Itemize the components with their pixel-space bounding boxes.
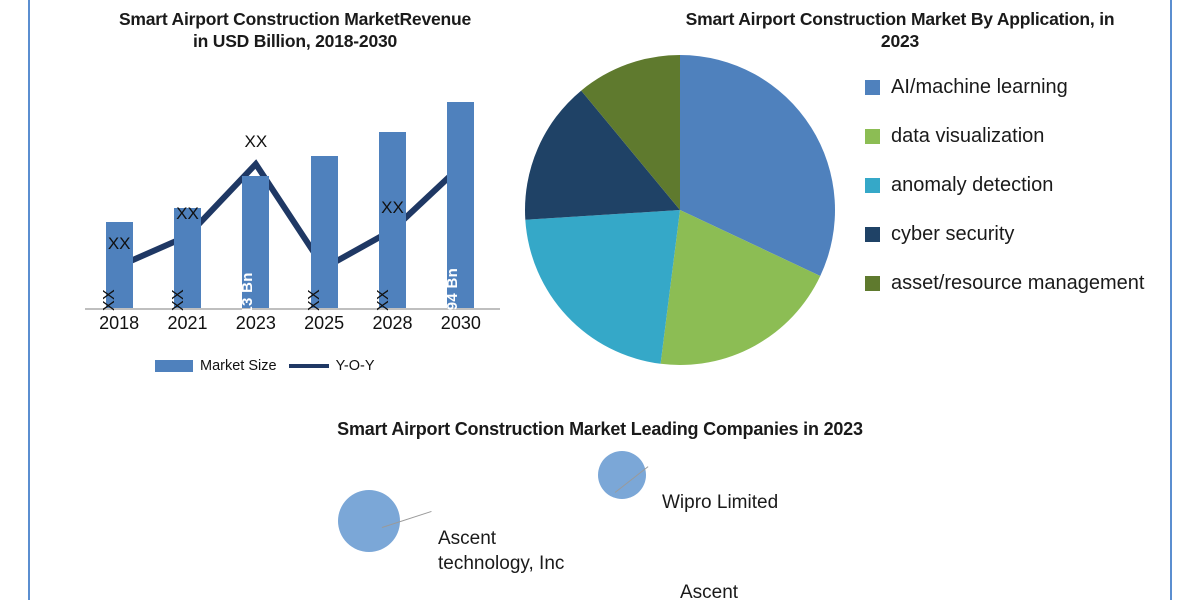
- revenue-chart-x-axis: [85, 308, 500, 310]
- application-pie-title: Smart Airport Construction Market By App…: [685, 8, 1115, 53]
- company-name-ascent: Ascent: [680, 581, 840, 600]
- revenue-chart-x-tick: 2018: [99, 313, 139, 334]
- legend-swatch-yoy: [289, 364, 329, 368]
- pie-legend-swatch: [865, 80, 880, 95]
- yoy-value-label: XX: [176, 204, 199, 224]
- pie-legend-item[interactable]: AI/machine learning: [865, 75, 1165, 100]
- revenue-bar: XX: [311, 156, 338, 308]
- yoy-value-label: XX: [244, 132, 267, 152]
- yoy-value-label: XX: [381, 198, 404, 218]
- application-pie-legend: AI/machine learningdata visualizationano…: [865, 75, 1165, 320]
- company-name-wipro: Wipro Limited: [662, 491, 842, 516]
- yoy-value-label: XX: [108, 234, 131, 254]
- pie-legend-label: AI/machine learning: [891, 75, 1068, 100]
- revenue-bar-value-label: XX: [375, 289, 393, 311]
- revenue-chart-x-tick: 2023: [236, 313, 276, 334]
- pie-legend-item[interactable]: asset/resource management: [865, 271, 1165, 296]
- revenue-chart-panel: Smart Airport Construction MarketRevenue…: [60, 0, 530, 400]
- revenue-chart-x-tick: 2030: [441, 313, 481, 334]
- revenue-chart-x-tick: 2025: [304, 313, 344, 334]
- pie-legend-label: anomaly detection: [891, 173, 1053, 198]
- pie-legend-swatch: [865, 227, 880, 242]
- revenue-bar: 8.13 Bn: [242, 176, 269, 308]
- revenue-chart-title: Smart Airport Construction MarketRevenue…: [115, 8, 475, 53]
- pie-legend-item[interactable]: anomaly detection: [865, 173, 1165, 198]
- pie-slice: [525, 210, 680, 364]
- revenue-bar: 10.94 Bn: [447, 102, 474, 308]
- pie-legend-swatch: [865, 276, 880, 291]
- legend-label-market-size: Market Size: [200, 358, 277, 374]
- leading-companies-title: Smart Airport Construction Market Leadin…: [300, 418, 900, 441]
- pie-legend-item[interactable]: data visualization: [865, 124, 1165, 149]
- pie-legend-item[interactable]: cyber security: [865, 222, 1165, 247]
- company-bubble-ascent-technology: [338, 490, 400, 552]
- revenue-bar: XX: [379, 132, 406, 308]
- infographic-page: Smart Airport Construction MarketRevenue…: [0, 0, 1200, 600]
- legend-entry-yoy: Y-O-Y: [289, 358, 375, 374]
- revenue-bar-value-label: XX: [170, 289, 188, 311]
- revenue-chart-plot-area: XXXX8.13 BnXXXX10.94 BnXXXXXXXX: [85, 78, 495, 308]
- revenue-chart-x-tick: 2028: [372, 313, 412, 334]
- yoy-polyline: [119, 164, 461, 268]
- pie-legend-swatch: [865, 129, 880, 144]
- legend-swatch-market-size: [155, 360, 193, 372]
- revenue-chart-legend: Market Size Y-O-Y: [155, 358, 375, 374]
- revenue-bar-value-label: XX: [101, 289, 119, 311]
- revenue-chart-x-tick: 2021: [167, 313, 207, 334]
- legend-entry-market-size: Market Size: [155, 358, 277, 374]
- pie-legend-label: data visualization: [891, 124, 1044, 149]
- pie-legend-label: cyber security: [891, 222, 1014, 247]
- pie-legend-swatch: [865, 178, 880, 193]
- company-name-ascent-technology: Ascent technology, Inc: [438, 527, 608, 576]
- revenue-bar-value-label: XX: [306, 289, 324, 311]
- company-bubble-wipro: [598, 451, 646, 499]
- application-pie-chart: [520, 50, 840, 370]
- legend-label-yoy: Y-O-Y: [336, 358, 375, 374]
- leading-companies-area: Ascent technology, Inc Wipro Limited Asc…: [0, 455, 1200, 600]
- yoy-line-series: [85, 78, 495, 308]
- application-pie-panel: Smart Airport Construction Market By App…: [505, 0, 1170, 400]
- pie-legend-label: asset/resource management: [891, 271, 1144, 296]
